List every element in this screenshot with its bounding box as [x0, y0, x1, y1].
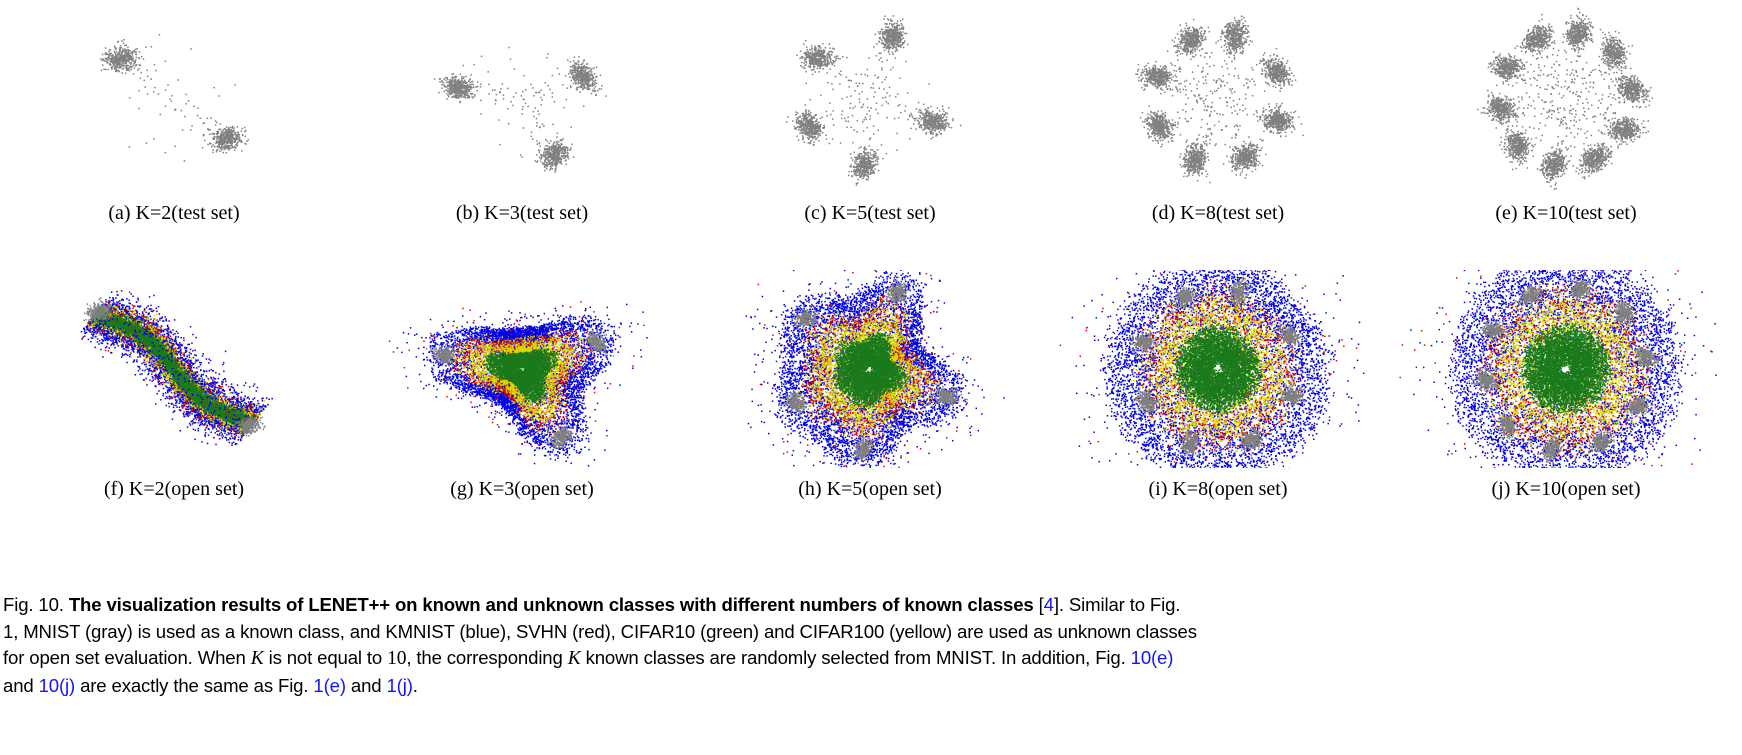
panel-g: (g) K=3(open set)	[348, 270, 696, 525]
caption-line-3: for open set evaluation. When K is not e…	[3, 645, 1739, 673]
panel-i: (i) K=8(open set)	[1044, 270, 1392, 525]
open-set-row: (f) K=2(open set) (g) K=3(open set) (h) …	[0, 270, 1742, 525]
caption-l3-c: , the corresponding	[406, 647, 567, 668]
panel-caption-f: (f) K=2(open set)	[0, 476, 348, 502]
panel-j: (j) K=10(open set)	[1392, 270, 1740, 525]
test-set-row: (a) K=2(test set) (b) K=3(test set) (c) …	[0, 0, 1742, 250]
panel-caption-e: (e) K=10(test set)	[1392, 200, 1740, 226]
panel-caption-d: (d) K=8(test set)	[1044, 200, 1392, 226]
caption-link-10j[interactable]: 10(j)	[39, 675, 75, 696]
panel-d: (d) K=8(test set)	[1044, 0, 1392, 250]
panel-caption-h: (h) K=5(open set)	[696, 476, 1044, 502]
caption-link-1j[interactable]: 1(j)	[386, 675, 412, 696]
caption-l4-b: are exactly the same as Fig.	[75, 675, 313, 696]
caption-l3-d: known classes are randomly selected from…	[581, 647, 1131, 668]
caption-line-1: Fig. 10. The visualization results of LE…	[3, 592, 1739, 619]
caption-math-K-1: K	[251, 648, 264, 669]
panel-f: (f) K=2(open set)	[0, 270, 348, 525]
caption-l3-b: is not equal to	[264, 647, 388, 668]
caption-figure-number: Fig. 10.	[3, 594, 64, 615]
scatter-plot-e	[1392, 0, 1740, 198]
caption-reference-4[interactable]: 4	[1044, 594, 1054, 615]
panel-caption-b: (b) K=3(test set)	[348, 200, 696, 226]
panel-c: (c) K=5(test set)	[696, 0, 1044, 250]
caption-line-4: and 10(j) are exactly the same as Fig. 1…	[3, 673, 1739, 700]
panel-b: (b) K=3(test set)	[348, 0, 696, 250]
caption-number-10: 10	[387, 648, 406, 669]
caption-reference-close: ]. Similar to Fig.	[1054, 594, 1180, 615]
caption-math-K-2: K	[568, 648, 581, 669]
caption-l4-a: and	[3, 675, 39, 696]
scatter-plot-i	[1044, 270, 1392, 468]
panel-caption-j: (j) K=10(open set)	[1392, 476, 1740, 502]
panel-e: (e) K=10(test set)	[1392, 0, 1740, 250]
caption-bold-title: The visualization results of LENET++ on …	[69, 594, 1034, 615]
caption-l3-a: for open set evaluation. When	[3, 647, 251, 668]
caption-link-1e[interactable]: 1(e)	[313, 675, 345, 696]
caption-l4-d: .	[413, 675, 418, 696]
panel-caption-i: (i) K=8(open set)	[1044, 476, 1392, 502]
caption-link-10e[interactable]: 10(e)	[1131, 647, 1174, 668]
caption-line-2: 1, MNIST (gray) is used as a known class…	[3, 619, 1739, 646]
scatter-plot-j	[1392, 270, 1740, 468]
panel-a: (a) K=2(test set)	[0, 0, 348, 250]
figure-10: (a) K=2(test set) (b) K=3(test set) (c) …	[0, 0, 1742, 755]
scatter-plot-b	[348, 0, 696, 198]
scatter-plot-h	[696, 270, 1044, 468]
scatter-plot-c	[696, 0, 1044, 198]
panel-caption-c: (c) K=5(test set)	[696, 200, 1044, 226]
scatter-plot-f	[0, 270, 348, 468]
panel-h: (h) K=5(open set)	[696, 270, 1044, 525]
scatter-plot-d	[1044, 0, 1392, 198]
figure-caption: Fig. 10. The visualization results of LE…	[3, 592, 1739, 699]
panel-caption-g: (g) K=3(open set)	[348, 476, 696, 502]
scatter-plot-g	[348, 270, 696, 468]
caption-l4-c: and	[346, 675, 387, 696]
panel-caption-a: (a) K=2(test set)	[0, 200, 348, 226]
scatter-plot-a	[0, 0, 348, 198]
